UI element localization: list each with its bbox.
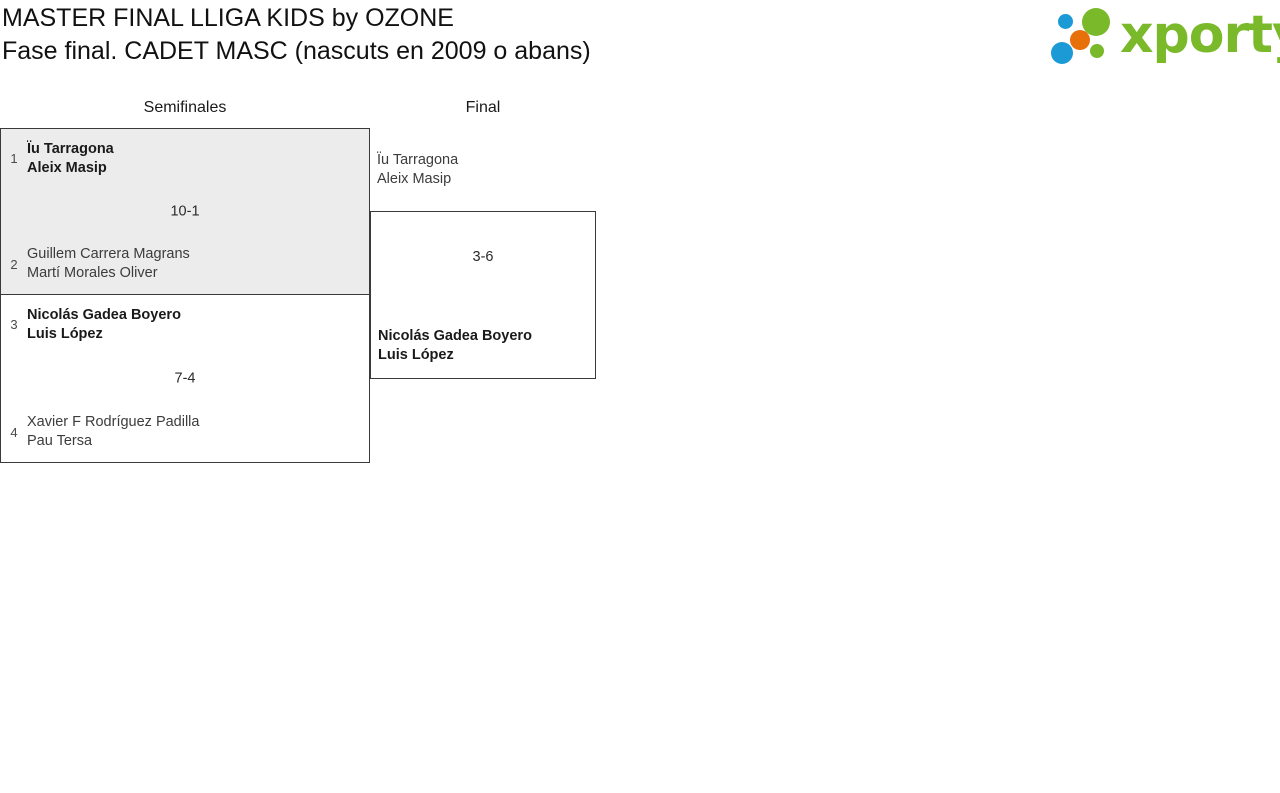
logo-dot-orange	[1070, 30, 1090, 50]
player-name: Aleix Masip	[27, 159, 363, 178]
player-name: Nicolás Gadea Boyero	[27, 306, 363, 325]
player-name: Luis López	[27, 325, 363, 344]
player-name: Luis López	[378, 346, 589, 365]
match-semifinal-2[interactable]: 3 Nicolás Gadea Boyero Luis López 7-4 4 …	[0, 294, 370, 463]
player-name: Ïu Tarragona	[27, 140, 363, 159]
seed-number: 3	[6, 317, 22, 332]
logo-dots-icon	[1050, 6, 1122, 68]
seed-number: 1	[6, 151, 22, 166]
team-top[interactable]: Nicolás Gadea Boyero Luis López	[27, 306, 363, 344]
player-name: Xavier F Rodríguez Padilla	[27, 413, 363, 432]
xporty-logo[interactable]: xporty	[1042, 2, 1272, 72]
team-top[interactable]: Ïu Tarragona Aleix Masip	[27, 140, 363, 178]
round-header-semifinales: Semifinales	[0, 98, 370, 118]
match-semifinal-1[interactable]: 1 Ïu Tarragona Aleix Masip 10-1 2 Guille…	[0, 128, 370, 295]
team-bottom[interactable]: Xavier F Rodríguez Padilla Pau Tersa	[27, 413, 363, 451]
final-team-top[interactable]: Ïu Tarragona Aleix Masip	[377, 151, 592, 189]
tournament-subtitle: Fase final. CADET MASC (nascuts en 2009 …	[2, 35, 591, 68]
tournament-title: MASTER FINAL LLIGA KIDS by OZONE	[2, 2, 591, 35]
match-score: 3-6	[371, 248, 595, 267]
page-title: MASTER FINAL LLIGA KIDS by OZONE Fase fi…	[2, 2, 591, 68]
team-bottom[interactable]: Guillem Carrera Magrans Martí Morales Ol…	[27, 245, 363, 283]
final-team-bottom[interactable]: Nicolás Gadea Boyero Luis López	[378, 327, 589, 365]
player-name: Guillem Carrera Magrans	[27, 245, 363, 264]
logo-dot-green-small	[1090, 44, 1104, 58]
seed-number: 2	[6, 257, 22, 272]
seed-number: 4	[6, 425, 22, 440]
round-header-final: Final	[370, 98, 596, 118]
logo-dot-blue-bottom	[1051, 42, 1073, 64]
player-name: Aleix Masip	[377, 170, 592, 189]
logo-dot-blue-top	[1058, 14, 1073, 29]
player-name: Ïu Tarragona	[377, 151, 592, 170]
player-name: Martí Morales Oliver	[27, 264, 363, 283]
player-name: Nicolás Gadea Boyero	[378, 327, 589, 346]
match-score: 7-4	[1, 369, 369, 388]
logo-wordmark: xporty	[1120, 3, 1280, 67]
match-score: 10-1	[1, 202, 369, 221]
match-final[interactable]: 3-6 Nicolás Gadea Boyero Luis López	[370, 211, 596, 379]
player-name: Pau Tersa	[27, 432, 363, 451]
page-header: MASTER FINAL LLIGA KIDS by OZONE Fase fi…	[0, 0, 1280, 78]
